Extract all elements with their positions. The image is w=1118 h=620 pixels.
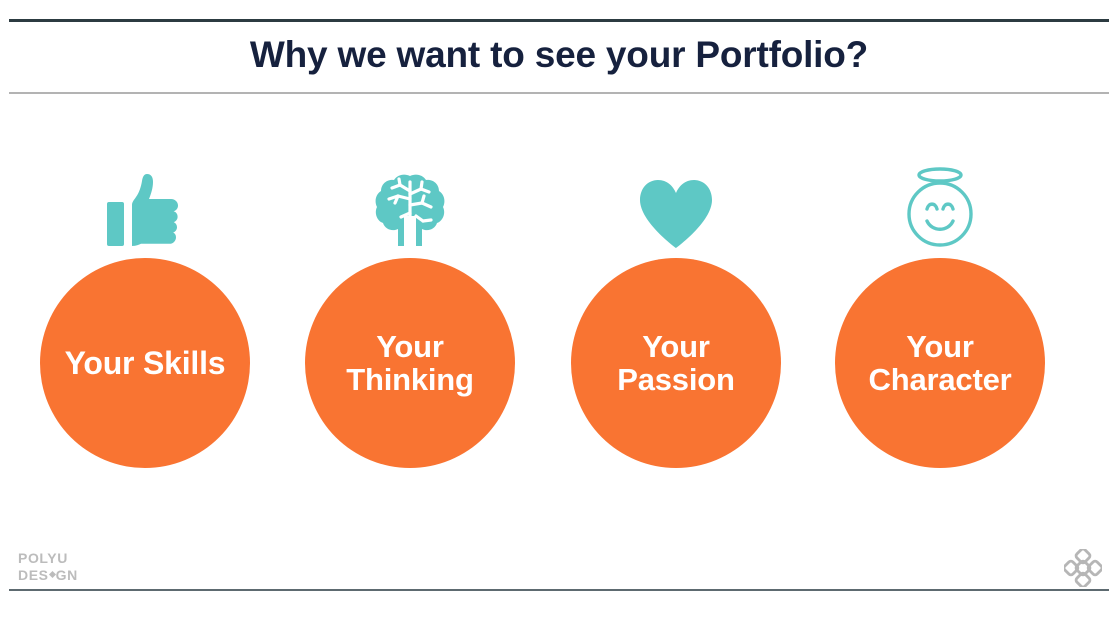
polyu-design-wordmark: POLYU DESGN <box>18 551 78 582</box>
slide-canvas: Why we want to see your Portfolio? Your … <box>0 0 1118 620</box>
brain-icon <box>295 150 525 250</box>
wordmark-line-1: POLYU <box>18 551 78 565</box>
pillar-column-thinking: Your Thinking <box>295 150 525 480</box>
pillar-bubble-character[interactable]: Your Character <box>835 258 1045 468</box>
pillar-bubble-thinking[interactable]: Your Thinking <box>305 258 515 468</box>
thumbs-up-icon <box>30 150 260 250</box>
heart-icon <box>561 150 791 250</box>
wordmark-gn: GN <box>56 567 78 583</box>
pillar-column-character: Your Character <box>825 150 1055 480</box>
pillar-columns: Your Skills <box>0 150 1118 480</box>
page-title: Why we want to see your Portfolio? <box>0 30 1118 80</box>
polyu-knot-logo-icon <box>1064 549 1102 587</box>
smiley-halo-icon <box>825 150 1055 250</box>
pillar-bubble-skills[interactable]: Your Skills <box>40 258 250 468</box>
header-top-rule <box>9 19 1109 22</box>
footer-rule <box>9 589 1109 591</box>
pillar-column-passion: Your Passion <box>561 150 791 480</box>
pillar-label: Your Thinking <box>340 330 480 397</box>
pillar-label: Your Character <box>863 330 1018 397</box>
pillar-label: Your Passion <box>611 330 740 397</box>
header-bottom-rule <box>9 92 1109 94</box>
pillar-bubble-passion[interactable]: Your Passion <box>571 258 781 468</box>
pillar-label: Your Skills <box>59 346 232 381</box>
wordmark-line-2: DESGN <box>18 568 78 582</box>
wordmark-diamond-icon <box>49 571 56 578</box>
wordmark-des: DES <box>18 567 49 583</box>
pillar-column-skills: Your Skills <box>30 150 260 480</box>
